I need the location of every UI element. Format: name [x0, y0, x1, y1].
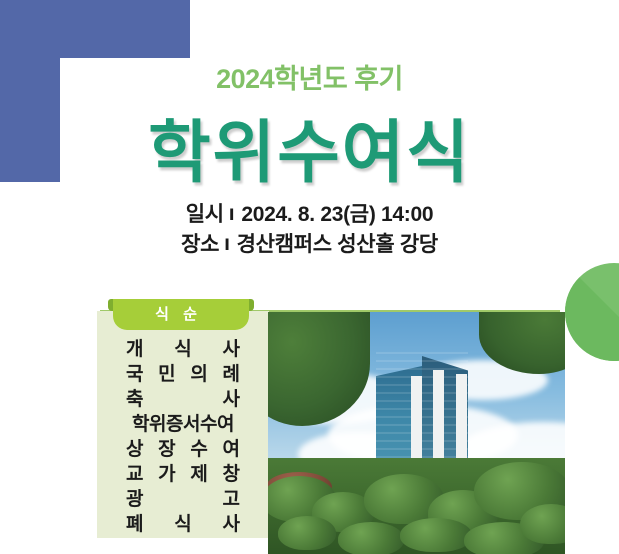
poster-title: 학위수여식	[0, 97, 619, 196]
program-item-char: 례	[223, 362, 240, 387]
program-item-char: 사	[223, 387, 240, 412]
program-item-char: 사	[223, 337, 240, 362]
program-item: 국민의례	[126, 362, 240, 387]
program-item-char: 교	[126, 462, 143, 487]
program-item-char: 제	[190, 462, 207, 487]
event-info-block: 일시ı2024. 8. 23(금) 14:00 장소ı경산캠퍼스 성산홀 강당	[0, 200, 619, 260]
program-heading: 식 순	[108, 299, 244, 330]
program-item-char: 축	[126, 387, 143, 412]
program-item: 상장수여	[126, 437, 240, 462]
program-list: 개식사국민의례축사학위증서수여상장수여교가제창광고폐식사	[97, 337, 269, 537]
program-item-char: 상	[126, 437, 143, 462]
campus-photo: 경산캠퍼스 성산홀 전경	[268, 312, 565, 554]
program-item-char: 개	[126, 337, 143, 362]
photo-shrub	[520, 504, 565, 544]
program-item-char: 여	[223, 437, 240, 462]
program-item-char: 식	[174, 512, 191, 537]
program-item-char: 식	[174, 337, 191, 362]
program-item-char: 폐	[126, 512, 143, 537]
program-item-char: 국	[126, 362, 143, 387]
event-info-venue: 장소ı경산캠퍼스 성산홀 강당	[0, 230, 619, 260]
program-item-char: 의	[190, 362, 207, 387]
program-item: 학위증서수여	[126, 412, 240, 437]
poster-subtitle: 2024학년도 후기	[0, 57, 619, 96]
graduation-ceremony-poster: 2024학년도 후기 학위수여식 일시ı2024. 8. 23(금) 14:00…	[0, 0, 619, 554]
event-info-venue-separator: ı	[219, 229, 237, 259]
event-info-datetime-label: 일시	[186, 203, 224, 226]
event-info-datetime: 일시ı2024. 8. 23(금) 14:00	[0, 200, 619, 230]
program-item-char: 가	[158, 462, 175, 487]
program-item-char: 민	[158, 362, 175, 387]
program-item-char: 장	[158, 437, 175, 462]
program-item: 광고	[126, 487, 240, 512]
program-item: 교가제창	[126, 462, 240, 487]
photo-shrub	[400, 518, 472, 552]
event-info-venue-label: 장소	[181, 233, 219, 256]
photo-shrub	[338, 522, 404, 554]
program-item-char: 사	[223, 512, 240, 537]
event-info-datetime-separator: ı	[224, 199, 242, 229]
program-item: 축사	[126, 387, 240, 412]
program-item-char: 광	[126, 487, 143, 512]
event-info-datetime-value: 2024. 8. 23(금) 14:00	[241, 203, 433, 226]
program-ribbon: 식 순	[108, 299, 254, 330]
program-item-char: 수	[190, 437, 207, 462]
decor-green-circle	[565, 263, 619, 361]
program-item-char: 고	[223, 487, 240, 512]
photo-shrub	[278, 516, 336, 550]
program-item-char: 학위증서수여	[132, 412, 234, 437]
program-item: 폐식사	[126, 512, 240, 537]
program-item-char: 창	[223, 462, 240, 487]
event-info-venue-value: 경산캠퍼스 성산홀 강당	[237, 233, 438, 256]
program-item: 개식사	[126, 337, 240, 362]
